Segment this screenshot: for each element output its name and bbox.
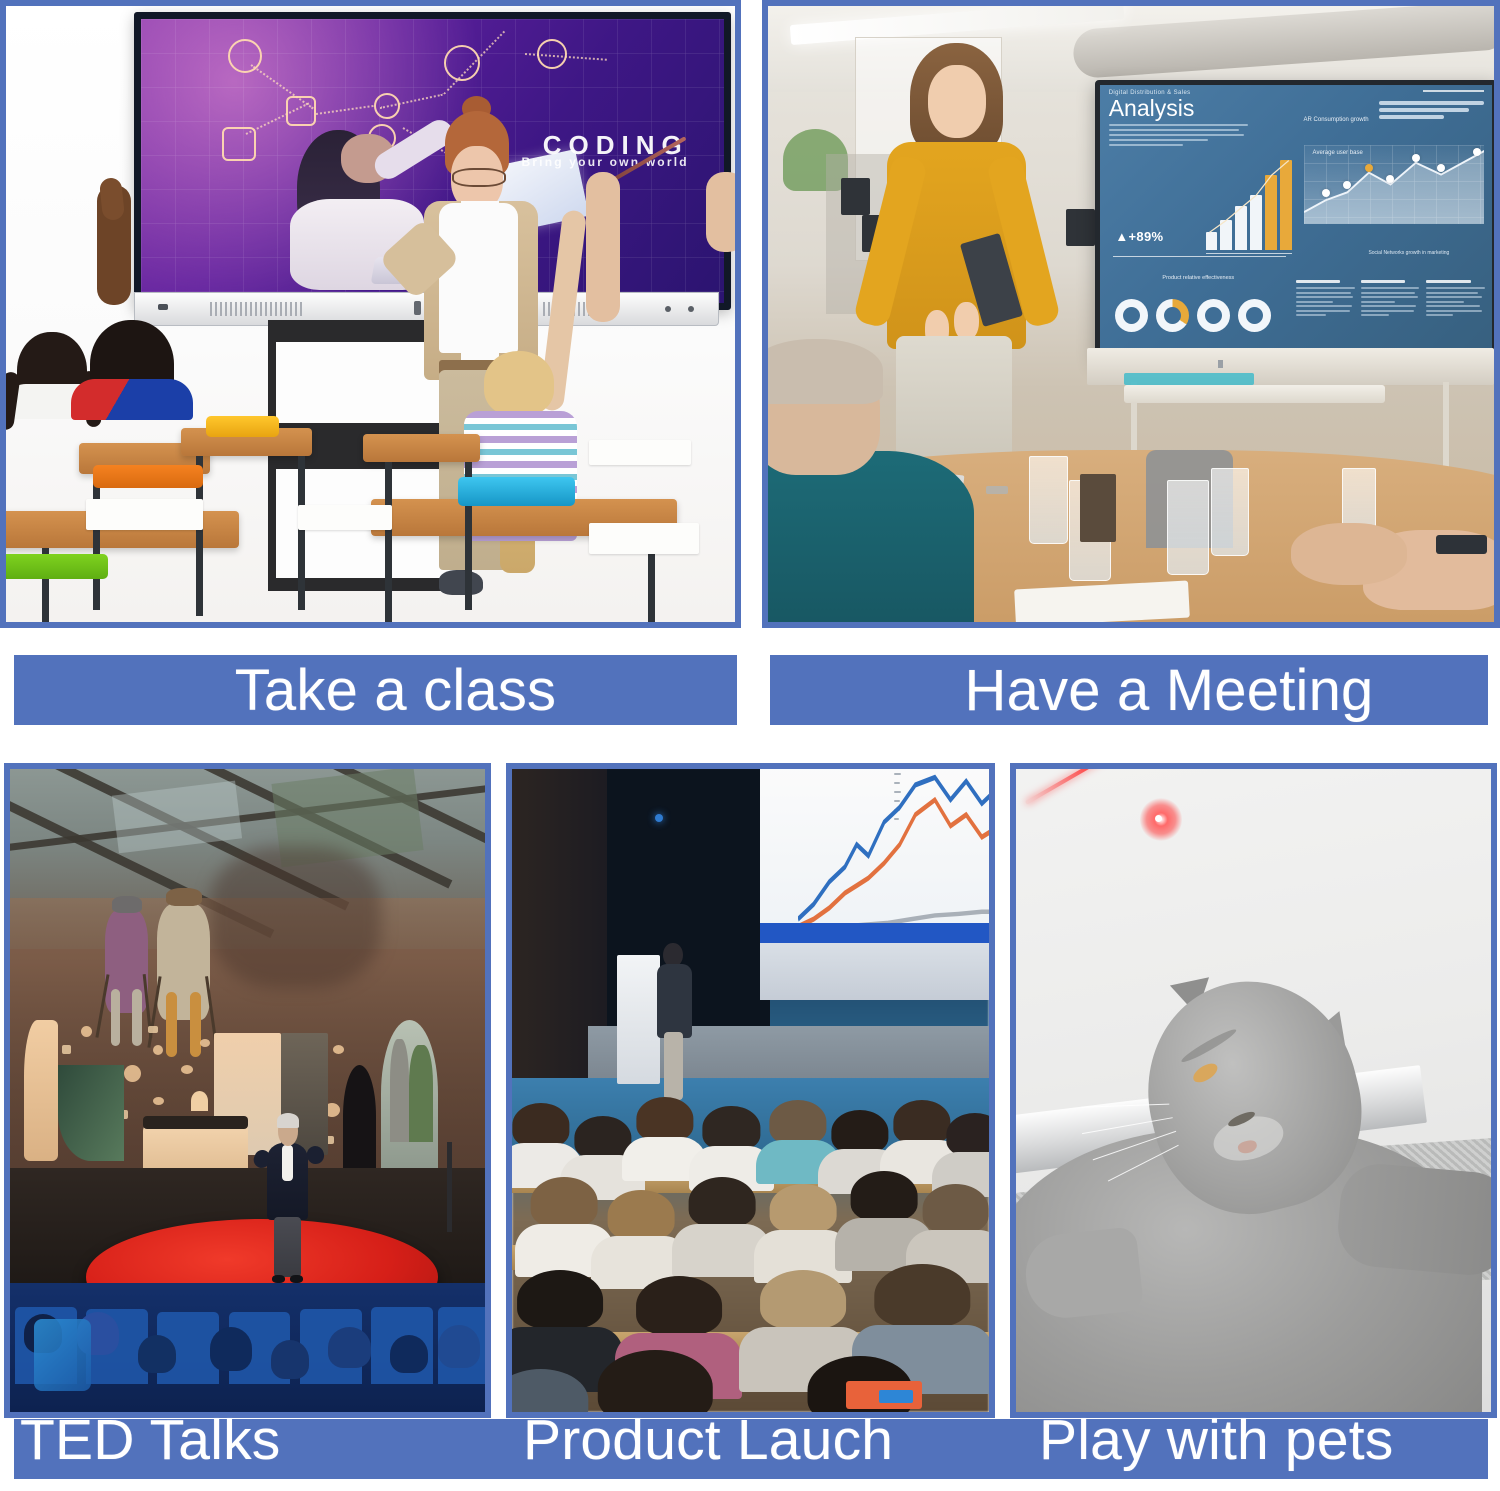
auditorium-photo — [512, 769, 989, 1412]
pencil-case-orange — [93, 465, 202, 488]
wristwatch — [1436, 535, 1487, 555]
highlight-dot — [1365, 164, 1373, 172]
donut-highlight — [1156, 299, 1189, 332]
audience-member — [760, 1270, 846, 1369]
pencil-case-blue — [458, 477, 575, 505]
panel-product-lauch[interactable] — [506, 763, 995, 1418]
caption-take-a-class: Take a class — [195, 657, 557, 724]
projection-screen — [760, 769, 989, 949]
caption-play-with-pets: Play with pets — [1039, 1407, 1393, 1473]
classroom-photo: CODING Bring your own world — [6, 6, 735, 622]
donut-row — [1115, 285, 1272, 345]
avg-user-base-label: Average user base — [1313, 150, 1363, 156]
glasses-icon — [452, 168, 506, 187]
badge-icon — [879, 1390, 912, 1402]
audience-member — [946, 1113, 989, 1181]
product-effectiveness-label: Product relative effectiveness — [1162, 275, 1234, 281]
right-charts: AR Consumption growth — [1304, 98, 1484, 239]
water-glass-3 — [1167, 480, 1209, 574]
set-panel-left — [24, 1020, 57, 1161]
panel-ted-talks[interactable] — [4, 763, 491, 1418]
wifi-icon — [228, 39, 262, 73]
set-panel-photo-left — [58, 1065, 125, 1161]
bulb-icon — [537, 39, 567, 69]
arch-motif — [191, 1091, 208, 1111]
cat-back — [1335, 1160, 1491, 1277]
desk-3 — [363, 434, 480, 462]
ted-audience — [10, 1283, 485, 1412]
audience-member-front — [512, 1369, 588, 1412]
area-chart: Average user base — [1304, 145, 1484, 224]
wall-display: Digital Distribution & Sales Analysis — [1095, 80, 1494, 361]
meeting-photo: Digital Distribution & Sales Analysis — [768, 6, 1494, 622]
audience-member — [875, 1264, 970, 1369]
qr-icon — [222, 127, 256, 161]
caption-bar-bottom: TED Talks Product Lauch Play with pets — [14, 1419, 1488, 1479]
audience-rows — [512, 1103, 989, 1412]
bar-trendline — [1206, 155, 1292, 247]
tray-green — [6, 554, 108, 579]
audience-member — [517, 1270, 603, 1369]
audience-member-front — [598, 1350, 712, 1412]
ted-speaker — [267, 1116, 310, 1283]
analysis-slide: Digital Distribution & Sales Analysis — [1100, 85, 1492, 356]
caption-have-a-meeting: Have a Meeting — [884, 657, 1373, 724]
ar-consumption-label: AR Consumption growth — [1304, 117, 1369, 123]
set-podium — [143, 1123, 248, 1174]
social-growth-label: Social Networks growth in marketing — [1368, 250, 1449, 256]
raised-hand-far-right — [706, 172, 735, 252]
water-glass-1 — [1029, 456, 1067, 544]
notebook-1 — [86, 499, 203, 530]
audience-member — [770, 1100, 827, 1168]
kpi-value: ▲+89% — [1115, 229, 1163, 244]
audience-member — [770, 1184, 837, 1264]
audience-member — [512, 1103, 569, 1171]
panel-play-with-pets[interactable] — [1010, 763, 1497, 1418]
podium — [617, 955, 660, 1084]
audience-member — [688, 1177, 755, 1257]
caption-ted-talks: TED Talks — [20, 1407, 280, 1473]
panel-take-a-class[interactable]: CODING Bring your own world — [0, 0, 741, 628]
panel-have-a-meeting[interactable]: Digital Distribution & Sales Analysis — [762, 0, 1500, 628]
caption-bar-have-a-meeting: Have a Meeting — [770, 655, 1488, 725]
audience-member — [922, 1184, 989, 1264]
slide-paragraph — [1109, 124, 1251, 146]
pupil-2 — [90, 320, 174, 412]
caption-bar-take-a-class: Take a class — [14, 655, 737, 725]
raised-hand-right — [586, 172, 620, 322]
text-columns — [1296, 280, 1488, 350]
projected-figure-1 — [105, 910, 148, 1013]
cat-eye — [1190, 1060, 1220, 1086]
audience-member — [636, 1097, 693, 1165]
audience-member — [531, 1177, 598, 1257]
audience-member — [607, 1190, 674, 1270]
cat-laser-photo — [1016, 769, 1491, 1412]
caption-product-lauch: Product Lauch — [523, 1407, 893, 1473]
notebook-3 — [589, 440, 691, 465]
water-glass-4 — [1211, 468, 1249, 556]
ted-talks-photo — [10, 769, 485, 1412]
attendee-hand-2 — [1291, 523, 1407, 585]
pencil-case-yellow — [206, 416, 279, 437]
set-arch-dark — [343, 1065, 376, 1168]
projected-figure-2 — [157, 904, 209, 1020]
audience-member — [703, 1106, 760, 1174]
presenter-figure — [655, 943, 693, 1097]
attendee-figure — [768, 345, 964, 622]
notebook-4 — [589, 523, 698, 554]
audience-member — [851, 1171, 918, 1251]
notebook-2 — [298, 505, 393, 530]
gear-large-icon — [444, 45, 480, 81]
projection-screen-band — [760, 923, 989, 944]
